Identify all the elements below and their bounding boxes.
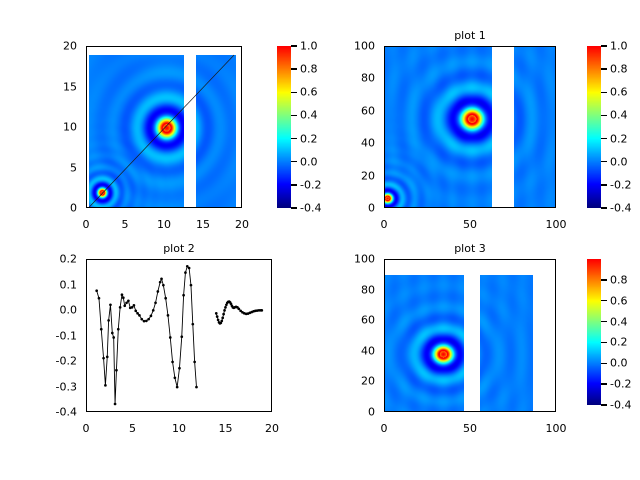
axis-tick-x-minor	[263, 411, 264, 412]
colorbar-tick	[291, 184, 297, 185]
colorbar-label: 0.4	[610, 316, 628, 327]
plot-axes	[384, 46, 556, 208]
data-point-marker	[150, 315, 153, 318]
axis-tick-y	[384, 111, 385, 112]
colorbar-tick	[601, 68, 607, 69]
axis-tick-y-minor	[86, 321, 87, 322]
colorbar-label: 0.6	[610, 87, 628, 98]
data-point-marker	[138, 314, 141, 317]
data-point-marker	[115, 369, 118, 372]
axis-tick-y-minor	[86, 295, 87, 296]
axis-tick-y-minor	[384, 278, 385, 279]
colorbar-gradient	[587, 259, 601, 405]
axis-tick-y-minor	[86, 300, 87, 301]
colorbar-label: -0.2	[300, 179, 321, 190]
colorbar-tick	[601, 363, 607, 364]
axis-tick-y-minor	[384, 170, 385, 171]
axis-tick-y	[86, 46, 87, 47]
axis-tick-x-minor	[180, 207, 181, 208]
axis-label-x: 5	[129, 423, 136, 434]
colorbar-label: 0.0	[610, 358, 628, 369]
axis-tick-y	[86, 127, 87, 128]
axis-tick-x-minor	[149, 207, 150, 208]
axis-label-x: 20	[235, 219, 249, 230]
axis-tick-x	[226, 411, 227, 412]
data-point-marker	[119, 306, 122, 309]
axis-label-x: 100	[546, 423, 567, 434]
axis-label-x: 0	[83, 423, 90, 434]
heatmap-block	[89, 55, 183, 208]
colorbar-label: 1.0	[610, 41, 628, 52]
colorbar-tick	[601, 321, 607, 322]
axis-tick-x	[470, 411, 471, 412]
axis-tick-x	[470, 207, 471, 208]
axis-tick-x-minor	[505, 207, 506, 208]
colorbar-label: -0.4	[300, 203, 321, 214]
axis-label-y: 15	[63, 81, 77, 92]
heatmap-block	[514, 47, 555, 208]
axis-tick-x-minor	[488, 411, 489, 412]
axis-tick-y-minor	[384, 53, 385, 54]
axis-label-y: 60	[361, 315, 375, 326]
data-point-marker	[167, 314, 170, 317]
axis-label-y: 20	[63, 41, 77, 52]
data-point-marker	[220, 320, 223, 323]
data-point-marker	[136, 312, 139, 315]
axis-tick-y-minor	[86, 111, 87, 112]
plot-title: plot 1	[384, 30, 556, 42]
axis-tick-x-minor	[188, 207, 189, 208]
axis-label-y: 40	[361, 345, 375, 356]
colorbar-tick	[601, 161, 607, 162]
data-point-marker	[117, 328, 120, 331]
axis-tick-y-minor	[384, 357, 385, 358]
colorbar-label: -0.4	[610, 400, 631, 411]
axis-tick-x-minor	[428, 207, 429, 208]
axis-label-y: 80	[361, 284, 375, 295]
axis-tick-x-minor	[539, 411, 540, 412]
axis-tick-y-minor	[86, 71, 87, 72]
data-point-marker	[223, 309, 226, 312]
axis-tick-x-minor	[522, 411, 523, 412]
axis-tick-x-minor	[124, 411, 125, 412]
data-point-marker	[133, 304, 136, 307]
data-point-marker	[159, 281, 162, 284]
axis-tick-y-minor	[86, 152, 87, 153]
axis-label-x: 100	[546, 219, 567, 230]
line-series-group	[87, 260, 271, 411]
axis-tick-x-minor	[522, 207, 523, 208]
data-point-marker	[176, 386, 179, 389]
data-point-marker	[160, 278, 163, 281]
axis-tick-x-minor	[196, 207, 197, 208]
axis-tick-x-minor	[453, 207, 454, 208]
axis-tick-y-minor	[384, 189, 385, 190]
plot-title: plot 3	[384, 243, 556, 255]
colorbar-tick	[601, 383, 607, 384]
axis-tick-x-minor	[410, 411, 411, 412]
colorbar-tick	[601, 404, 607, 405]
data-point-marker	[112, 336, 115, 339]
axis-label-y: -0.1	[56, 330, 77, 341]
plot-axes	[86, 46, 242, 208]
axis-tick-x-minor	[531, 411, 532, 412]
axis-tick-x-minor	[393, 207, 394, 208]
axis-tick-y-minor	[384, 105, 385, 106]
heatmap-surface	[514, 47, 555, 208]
axis-tick-y-minor	[86, 275, 87, 276]
axis-tick-y-minor	[86, 407, 87, 408]
axis-tick-x-minor	[207, 411, 208, 412]
axis-tick-y-minor	[86, 184, 87, 185]
axis-tick-y-minor	[384, 266, 385, 267]
data-point-marker	[111, 332, 114, 335]
colorbar-tick	[291, 92, 297, 93]
axis-tick-y-minor	[86, 356, 87, 357]
data-point-marker	[104, 384, 107, 387]
colorbar-label: 0.6	[610, 295, 628, 306]
data-point-marker	[127, 299, 130, 302]
axis-tick-x-minor	[227, 207, 228, 208]
data-point-marker	[217, 319, 220, 322]
axis-tick-y	[86, 259, 87, 260]
axis-tick-y-minor	[384, 339, 385, 340]
axis-label-y: 20	[361, 170, 375, 181]
axis-tick-y	[384, 321, 385, 322]
data-point-marker	[125, 301, 128, 304]
axis-tick-x-minor	[462, 207, 463, 208]
axis-tick-x-minor	[496, 207, 497, 208]
colorbar-tick	[601, 45, 607, 46]
axis-tick-y-minor	[86, 341, 87, 342]
data-point-marker	[195, 386, 198, 389]
axis-tick-x-minor	[479, 411, 480, 412]
axis-tick-x-minor	[514, 207, 515, 208]
axis-tick-y-minor	[86, 367, 87, 368]
data-point-marker	[260, 309, 263, 312]
axis-tick-x-minor	[161, 411, 162, 412]
axis-tick-y-minor	[384, 284, 385, 285]
axis-tick-x-minor	[235, 207, 236, 208]
axis-tick-x-minor	[428, 411, 429, 412]
axis-tick-x-minor	[462, 411, 463, 412]
axis-label-y: 0	[368, 407, 375, 418]
axis-label-y: -0.2	[56, 356, 77, 367]
axis-tick-y-minor	[86, 95, 87, 96]
axis-tick-x-minor	[94, 207, 95, 208]
axis-label-y: 0	[70, 203, 77, 214]
data-point-marker	[222, 313, 225, 316]
colorbar-label: -0.4	[610, 203, 631, 214]
data-point-marker	[145, 320, 148, 323]
axis-tick-y-minor	[384, 163, 385, 164]
axis-label-x: 0	[83, 219, 90, 230]
axis-tick-x	[384, 207, 385, 208]
axis-label-y: -0.4	[56, 407, 77, 418]
axis-label-x: 20	[265, 423, 279, 434]
axis-tick-y-minor	[384, 157, 385, 158]
data-point-marker	[164, 297, 167, 300]
axis-label-y: 100	[354, 41, 375, 52]
colorbar-label: 0.0	[610, 156, 628, 167]
axis-label-x: 0	[381, 423, 388, 434]
axis-tick-x-minor	[172, 207, 173, 208]
axis-label-y: 0.2	[60, 254, 78, 265]
line-path	[216, 302, 262, 324]
axis-tick-y-minor	[384, 59, 385, 60]
axis-tick-x-minor	[496, 411, 497, 412]
plot-axes	[384, 259, 556, 412]
axis-label-y: 60	[361, 105, 375, 116]
axis-tick-y-minor	[86, 103, 87, 104]
axis-tick-x-minor	[548, 411, 549, 412]
data-point-marker	[152, 309, 155, 312]
axis-tick-y-minor	[384, 98, 385, 99]
data-point-marker	[121, 293, 124, 296]
axis-tick-x-minor	[436, 207, 437, 208]
axis-tick-y	[86, 285, 87, 286]
axis-tick-y-minor	[384, 72, 385, 73]
axis-label-y: 100	[354, 254, 375, 265]
axis-tick-y-minor	[384, 137, 385, 138]
colorbar-label: 1.0	[300, 41, 318, 52]
heatmap-surface	[89, 55, 183, 208]
data-point-marker	[182, 294, 185, 297]
axis-tick-x-minor	[445, 411, 446, 412]
axis-tick-x	[133, 411, 134, 412]
data-point-marker	[106, 356, 109, 359]
heatmap-surface	[196, 55, 236, 208]
colorbar-tick	[601, 138, 607, 139]
axis-tick-y-minor	[384, 196, 385, 197]
colorbar-gradient	[277, 46, 291, 208]
axis-tick-y	[86, 87, 87, 88]
axis-tick-y-minor	[86, 351, 87, 352]
colorbar-label: -0.2	[610, 179, 631, 190]
axis-tick-x-minor	[96, 411, 97, 412]
axis-tick-y-minor	[384, 370, 385, 371]
colorbar-label: 0.2	[610, 133, 628, 144]
axis-tick-x-minor	[402, 207, 403, 208]
axis-tick-x-minor	[402, 411, 403, 412]
data-point-marker	[180, 335, 183, 338]
axis-tick-y-minor	[384, 394, 385, 395]
axis-tick-y-minor	[86, 176, 87, 177]
axis-tick-y	[384, 351, 385, 352]
axis-tick-y-minor	[86, 200, 87, 201]
axis-tick-x-minor	[189, 411, 190, 412]
axis-tick-y-minor	[384, 85, 385, 86]
axis-tick-y-minor	[86, 290, 87, 291]
axis-label-x: 10	[157, 219, 171, 230]
data-point-marker	[131, 306, 134, 309]
axis-tick-y	[384, 259, 385, 260]
axis-tick-x	[86, 411, 87, 412]
colorbar-tick	[291, 161, 297, 162]
axis-tick-y-minor	[86, 55, 87, 56]
axis-label-x: 5	[122, 219, 129, 230]
axis-tick-x-minor	[539, 207, 540, 208]
axis-tick-y-minor	[384, 327, 385, 328]
axis-label-x: 50	[463, 423, 477, 434]
axis-tick-y-minor	[384, 92, 385, 93]
axis-tick-y-minor	[86, 346, 87, 347]
colorbar: -0.4-0.20.00.20.40.60.81.0	[587, 46, 601, 208]
axis-tick-y-minor	[384, 150, 385, 151]
plot-axes	[86, 259, 272, 412]
colorbar-label: 0.8	[610, 274, 628, 285]
colorbar-tick	[601, 279, 607, 280]
data-point-marker	[191, 323, 194, 326]
axis-tick-x-minor	[141, 207, 142, 208]
heatmap-block	[385, 47, 492, 208]
heatmap-surface	[385, 47, 492, 208]
data-point-marker	[95, 289, 98, 292]
data-point-marker	[162, 284, 165, 287]
axis-tick-y-minor	[384, 202, 385, 203]
axis-tick-x-minor	[170, 411, 171, 412]
heatmap-surface	[480, 275, 533, 412]
axis-label-y: 0.0	[60, 305, 78, 316]
axis-label-x: 15	[219, 423, 233, 434]
colorbar-label: 0.4	[610, 110, 628, 121]
axis-tick-y-minor	[384, 183, 385, 184]
axis-tick-x	[86, 207, 87, 208]
axis-tick-x-minor	[419, 207, 420, 208]
axis-tick-y-minor	[86, 316, 87, 317]
axis-tick-y-minor	[384, 308, 385, 309]
axis-tick-y-minor	[384, 400, 385, 401]
colorbar-tick	[601, 92, 607, 93]
data-point-marker	[122, 296, 125, 299]
axis-tick-x	[164, 207, 165, 208]
axis-tick-x-minor	[157, 207, 158, 208]
axis-tick-y-minor	[86, 331, 87, 332]
axis-tick-y-minor	[384, 376, 385, 377]
figure-canvas: 0510152005101520-0.4-0.20.00.20.40.60.81…	[0, 0, 640, 480]
axis-tick-x-minor	[110, 207, 111, 208]
data-point-marker	[184, 271, 187, 274]
axis-label-y: 5	[70, 162, 77, 173]
axis-label-x: 15	[196, 219, 210, 230]
data-point-marker	[174, 376, 177, 379]
axis-label-y: 80	[361, 73, 375, 84]
axis-tick-x-minor	[410, 207, 411, 208]
axis-tick-y-minor	[86, 160, 87, 161]
colorbar-tick	[601, 342, 607, 343]
axis-label-x: 10	[172, 423, 186, 434]
data-point-marker	[154, 301, 157, 304]
colorbar-label: 0.4	[300, 110, 318, 121]
data-point-marker	[221, 317, 224, 320]
plot-title: plot 2	[86, 243, 272, 255]
data-point-marker	[109, 303, 112, 306]
data-point-marker	[188, 267, 191, 270]
axis-tick-x-minor	[219, 207, 220, 208]
data-point-marker	[216, 315, 219, 318]
axis-label-y: 0.1	[60, 279, 78, 290]
heatmap-block	[385, 275, 464, 412]
axis-tick-x-minor	[102, 207, 103, 208]
axis-tick-y-minor	[384, 333, 385, 334]
axis-tick-y	[86, 387, 87, 388]
axis-tick-y-minor	[86, 402, 87, 403]
axis-tick-x-minor	[254, 411, 255, 412]
colorbar-tick	[291, 115, 297, 116]
data-point-marker	[178, 367, 181, 370]
axis-tick-y	[86, 361, 87, 362]
axis-tick-y-minor	[384, 406, 385, 407]
axis-tick-y	[384, 176, 385, 177]
axis-tick-y-minor	[86, 63, 87, 64]
axis-label-y: 10	[63, 122, 77, 133]
axis-label-x: 50	[463, 219, 477, 230]
axis-tick-x-minor	[105, 411, 106, 412]
axis-label-y: 0	[368, 203, 375, 214]
axis-label-y: -0.3	[56, 381, 77, 392]
axis-tick-x-minor	[505, 411, 506, 412]
axis-tick-x-minor	[198, 411, 199, 412]
axis-tick-y	[384, 290, 385, 291]
axis-tick-x-minor	[531, 207, 532, 208]
data-point-marker	[143, 320, 146, 323]
axis-tick-x-minor	[152, 411, 153, 412]
axis-tick-y-minor	[86, 280, 87, 281]
axis-tick-x-minor	[114, 411, 115, 412]
axis-tick-y-minor	[384, 124, 385, 125]
axis-tick-x-minor	[142, 411, 143, 412]
axis-tick-y-minor	[86, 392, 87, 393]
colorbar-label: 0.0	[300, 156, 318, 167]
axis-tick-x-minor	[488, 207, 489, 208]
data-point-marker	[107, 319, 110, 322]
axis-tick-y-minor	[86, 119, 87, 120]
line-path	[97, 266, 197, 404]
axis-tick-y-minor	[86, 326, 87, 327]
heatmap-surface	[385, 275, 464, 412]
colorbar-label: 0.6	[300, 87, 318, 98]
data-point-marker	[169, 336, 172, 339]
colorbar-tick	[601, 115, 607, 116]
axis-tick-x-minor	[514, 411, 515, 412]
data-point-marker	[215, 312, 218, 315]
axis-tick-x-minor	[479, 207, 480, 208]
colorbar-label: 0.2	[610, 337, 628, 348]
axis-tick-x-minor	[211, 207, 212, 208]
axis-label-x: 0	[381, 219, 388, 230]
colorbar-label: 0.2	[300, 133, 318, 144]
colorbar-tick	[291, 138, 297, 139]
axis-tick-y	[384, 79, 385, 80]
colorbar-tick	[291, 45, 297, 46]
heatmap-block	[196, 55, 236, 208]
colorbar: -0.4-0.20.00.20.40.60.81.0	[277, 46, 291, 208]
axis-tick-y-minor	[86, 144, 87, 145]
axis-tick-y-minor	[86, 192, 87, 193]
axis-tick-y-minor	[86, 397, 87, 398]
data-point-marker	[123, 304, 126, 307]
axis-tick-x	[179, 411, 180, 412]
data-point-marker	[140, 318, 143, 321]
axis-tick-y-minor	[384, 118, 385, 119]
colorbar-gradient	[587, 46, 601, 208]
axis-tick-x	[384, 411, 385, 412]
colorbar-label: -0.2	[610, 379, 631, 390]
axis-tick-y-minor	[86, 305, 87, 306]
axis-tick-y-minor	[384, 388, 385, 389]
axis-tick-y-minor	[384, 364, 385, 365]
axis-tick-x-minor	[436, 411, 437, 412]
